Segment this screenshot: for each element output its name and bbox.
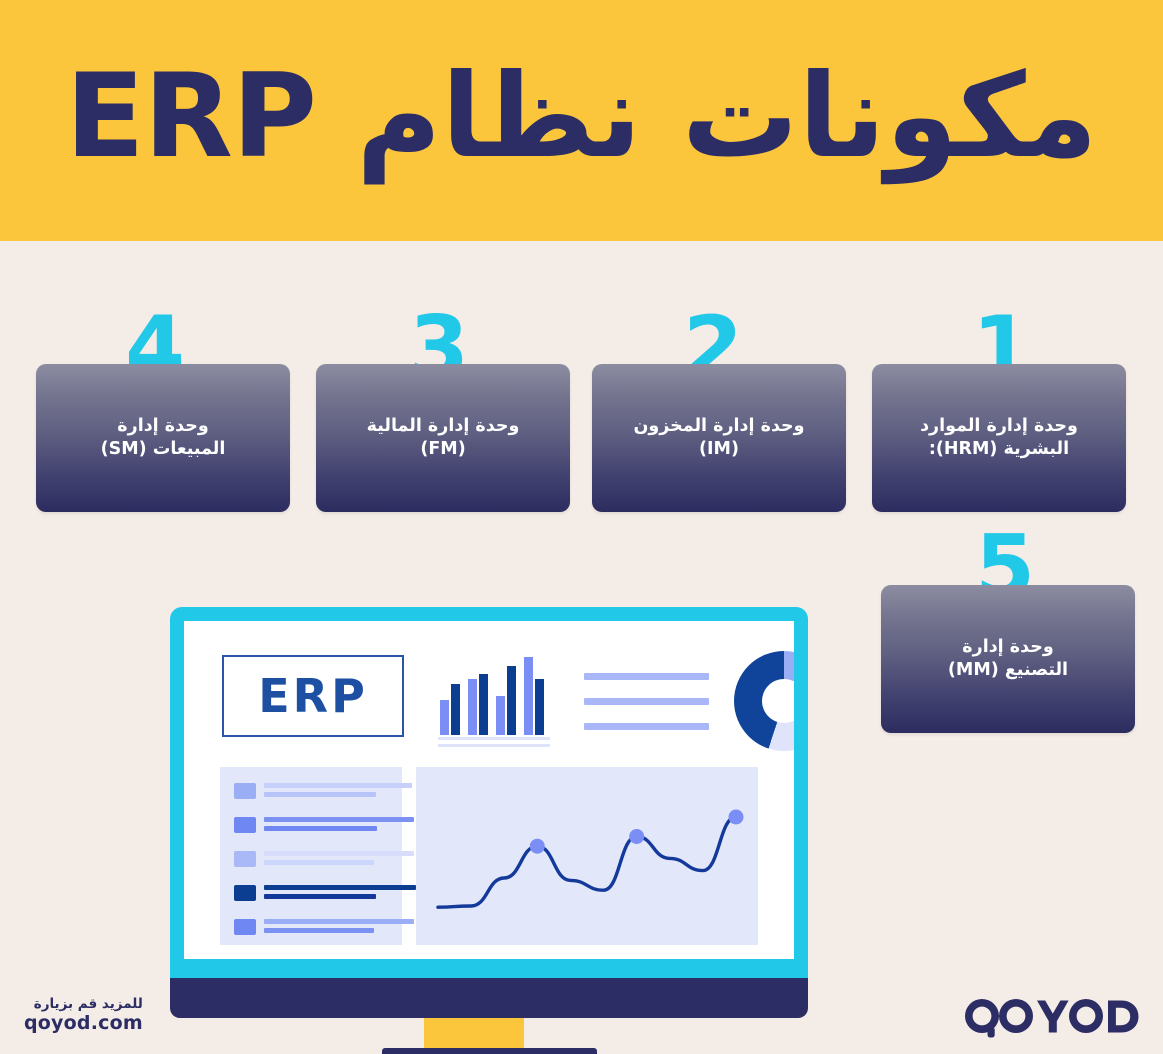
list-item-chip	[234, 783, 256, 799]
list-item-line	[264, 885, 416, 890]
text-line	[584, 723, 709, 730]
list-item[interactable]	[234, 885, 416, 901]
list-item[interactable]	[234, 817, 414, 833]
list-item-chip	[234, 919, 256, 935]
donut-chart-hole	[762, 679, 794, 723]
list-item-line	[264, 860, 374, 865]
card-label-im: وحدة إدارة المخزون (IM)	[612, 415, 827, 462]
bar-chart-axis-line-1	[438, 737, 550, 740]
list-item[interactable]	[234, 783, 412, 799]
card-mm[interactable]: وحدة إدارة التصنيع (MM)	[881, 585, 1135, 733]
monitor-illustration: ERP	[170, 607, 808, 1011]
list-item-line	[264, 894, 376, 899]
line-chart-marker	[729, 810, 744, 825]
bar	[524, 657, 533, 735]
text-line	[584, 673, 709, 680]
footer-url[interactable]: qoyod.com	[24, 1012, 143, 1036]
header-band: مكونات نظام ERP	[0, 0, 1163, 241]
list-item-line	[264, 792, 376, 797]
bar-chart-axis-line-2	[438, 744, 550, 747]
monitor-stand-neck	[424, 1018, 524, 1048]
bar	[479, 674, 488, 735]
list-item-chip	[234, 885, 256, 901]
card-label-fm: وحدة إدارة المالية (FM)	[336, 415, 551, 462]
infographic-canvas: مكونات نظام ERP 1 وحدة إدارة الموارد الب…	[0, 0, 1163, 1054]
text-line	[584, 698, 709, 705]
list-item-line	[264, 928, 374, 933]
list-item-line	[264, 826, 377, 831]
bar	[535, 679, 544, 735]
bar	[440, 700, 449, 735]
line-chart-marker	[530, 839, 545, 854]
list-item-chip	[234, 817, 256, 833]
card-label-mm: وحدة إدارة التصنيع (MM)	[901, 636, 1116, 683]
monitor-screen: ERP	[184, 621, 794, 959]
bar	[451, 684, 460, 735]
list-item-line	[264, 851, 414, 856]
bar	[496, 696, 505, 735]
list-item[interactable]	[234, 851, 414, 867]
bar	[468, 679, 477, 735]
list-item-line	[264, 783, 412, 788]
card-im[interactable]: وحدة إدارة المخزون (IM)	[592, 364, 846, 512]
card-label-sm: وحدة إدارة المبيعات (SM)	[56, 415, 271, 462]
brand-logo	[961, 995, 1139, 1039]
list-item[interactable]	[234, 919, 414, 935]
page-title: مكونات نظام ERP	[65, 59, 1097, 175]
footer-cta-arabic: للمزيد قم بزيارة	[24, 996, 143, 1012]
card-fm[interactable]: وحدة إدارة المالية (FM)	[316, 364, 570, 512]
line-chart-panel	[416, 767, 758, 945]
qoyod-wordmark-icon	[961, 995, 1139, 1039]
bar	[507, 666, 516, 735]
monitor-stand-base	[382, 1048, 597, 1054]
erp-logo-text: ERP	[258, 673, 368, 719]
list-panel	[220, 767, 402, 945]
card-label-hrm: وحدة إدارة الموارد البشرية (HRM):	[892, 415, 1107, 462]
list-item-line	[264, 817, 414, 822]
list-item-chip	[234, 851, 256, 867]
footer-cta: للمزيد قم بزيارة qoyod.com	[24, 996, 143, 1036]
card-hrm[interactable]: وحدة إدارة الموارد البشرية (HRM):	[872, 364, 1126, 512]
monitor-bezel: ERP	[170, 607, 808, 1011]
bar-chart	[438, 657, 550, 747]
card-sm[interactable]: وحدة إدارة المبيعات (SM)	[36, 364, 290, 512]
list-item-line	[264, 919, 414, 924]
monitor-chin	[170, 978, 808, 1018]
line-chart-svg	[416, 767, 758, 945]
text-line-rows	[584, 673, 709, 748]
erp-logo-box: ERP	[222, 655, 404, 737]
donut-chart	[734, 651, 794, 751]
line-chart-marker	[629, 829, 644, 844]
